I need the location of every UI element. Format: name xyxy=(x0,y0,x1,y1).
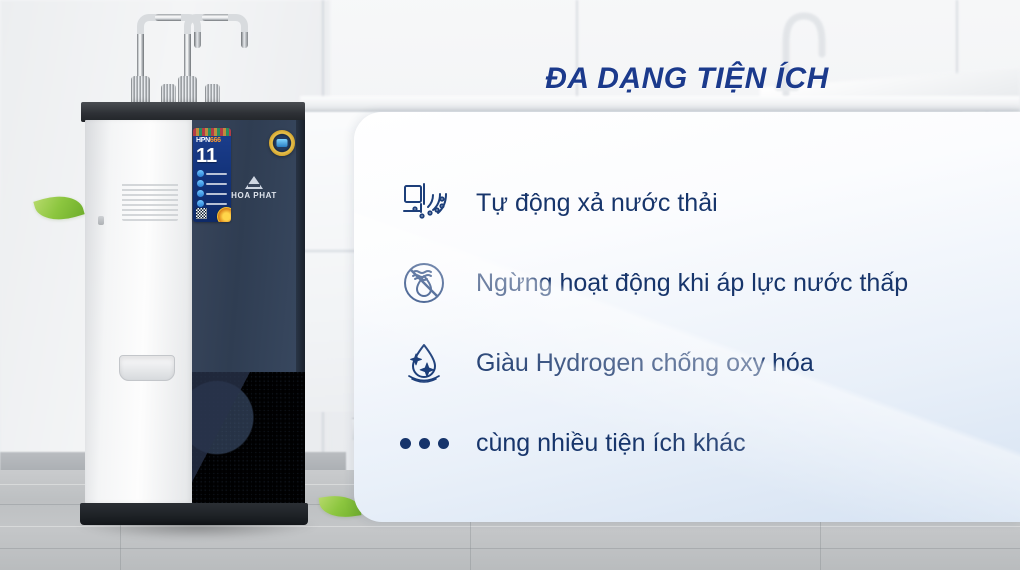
feature-label: cùng nhiều tiện ích khác xyxy=(476,428,746,458)
product-body-left xyxy=(85,120,192,503)
door-lock-icon xyxy=(98,216,104,225)
brand-mark-icon xyxy=(245,176,263,189)
feature-item-auto-drain[interactable]: Tự động xả nước thải xyxy=(398,174,992,232)
brand-logo: HOA PHAT xyxy=(224,176,284,200)
feature-item-hydrogen[interactable]: Giàu Hydrogen chống oxy hóa xyxy=(398,334,992,392)
gold-quality-badge-icon xyxy=(269,130,295,156)
product-top-slab xyxy=(81,102,305,122)
vent-grill-icon xyxy=(122,181,178,221)
feature-label: Ngừng hoạt động khi áp lực nước thấp xyxy=(476,268,908,298)
more-dots-icon xyxy=(398,417,450,469)
gold-seal-icon xyxy=(217,207,231,222)
sticker-stage-count: 11 xyxy=(196,146,217,166)
no-low-water-pressure-icon xyxy=(398,257,450,309)
hydrogen-water-drop-icon xyxy=(398,337,450,389)
page-title: ĐA DẠNG TIỆN ÍCH xyxy=(354,62,1020,96)
feature-item-low-pressure-stop[interactable]: Ngừng hoạt động khi áp lực nước thấp xyxy=(398,254,992,312)
feature-label: Giàu Hydrogen chống oxy hóa xyxy=(476,348,814,378)
feature-label: Tự động xả nước thải xyxy=(476,188,718,218)
brand-name: HOA PHAT xyxy=(224,191,284,200)
features-card: Tự động xả nước thải Ngừng hoạt động khi… xyxy=(354,112,1020,522)
perforated-panel xyxy=(192,372,305,524)
product-spec-sticker: HPN666 11 xyxy=(193,128,231,222)
sticker-stripe xyxy=(193,128,231,136)
water-purifier-product: HPN666 11 HOA PHAT xyxy=(74,0,310,566)
sticker-model: HPN666 xyxy=(196,137,221,144)
feature-list: Tự động xả nước thải Ngừng hoạt động khi… xyxy=(398,174,992,472)
feature-item-more[interactable]: cùng nhiều tiện ích khác xyxy=(398,414,992,472)
product-shadow xyxy=(74,522,320,540)
door-handle-icon xyxy=(119,355,175,381)
auto-drain-waste-water-icon xyxy=(398,177,450,229)
sticker-feature-rows xyxy=(197,170,227,210)
qr-code-icon xyxy=(196,208,207,219)
